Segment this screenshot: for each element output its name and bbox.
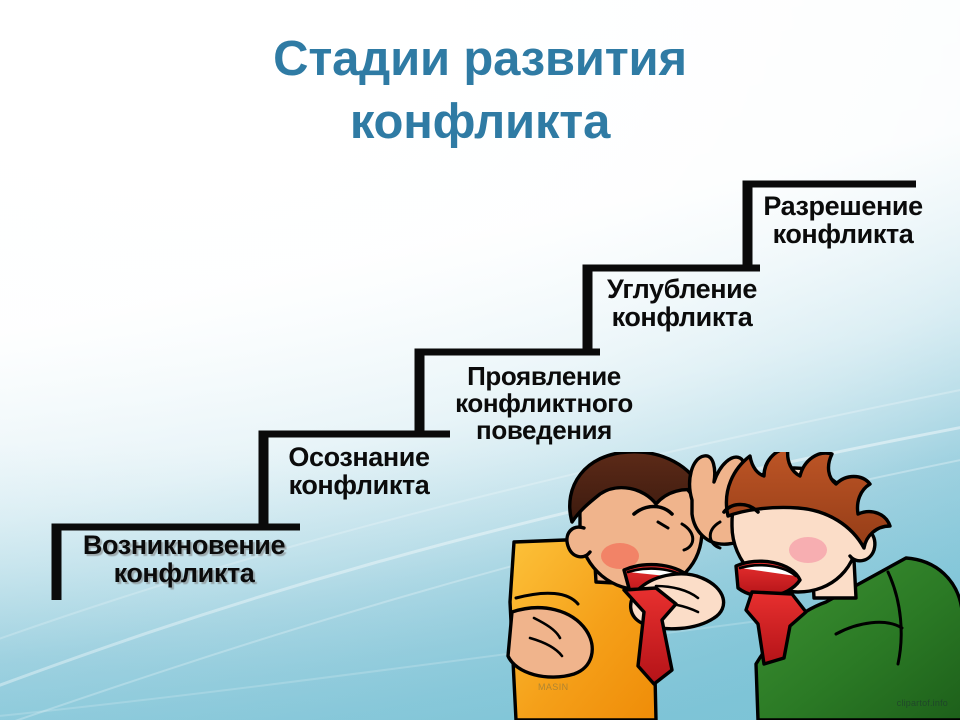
slide-canvas: Стадии развития конфликта Возникновение … [0, 0, 960, 720]
step-label-2: Осознание конфликта [266, 443, 452, 499]
step-label-4: Углубление конфликта [589, 275, 775, 331]
step-label-1: Возникновение конфликта [58, 531, 310, 587]
two-men-arguing-illustration [506, 452, 960, 720]
step-label-5: Разрешение конфликта [750, 192, 936, 248]
step-label-3: Проявление конфликтного поведения [432, 363, 656, 444]
clipart-watermark: clipartof.info [897, 698, 948, 708]
clipart-watermark-secondary: MASIN [538, 682, 569, 692]
